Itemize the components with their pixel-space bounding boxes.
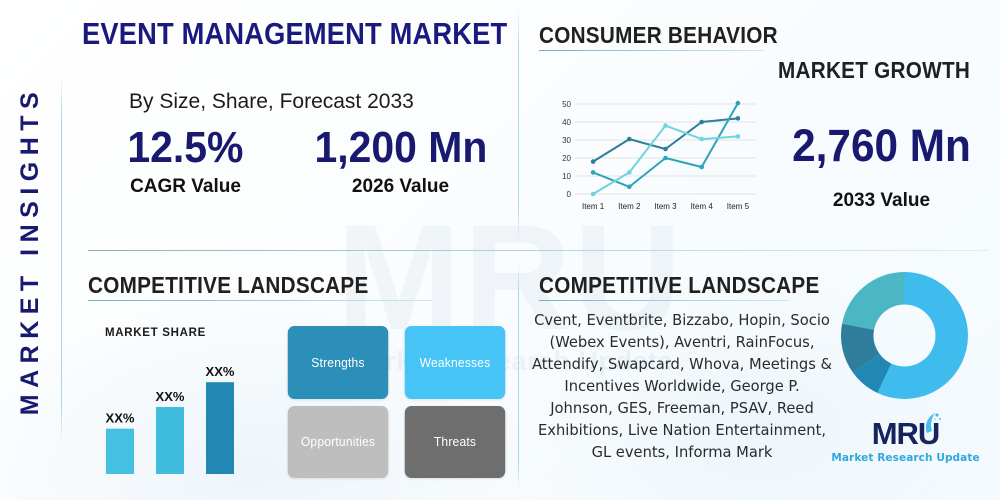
svg-text:Item 2: Item 2 [618,202,641,211]
swot-matrix: StrengthsWeaknessesOpportunitiesThreats [284,326,509,478]
consumer-behavior-heading: CONSUMER BEHAVIOR [539,22,778,49]
competitive-landscape-right-heading: COMPETITIVE LANDSCAPE [539,272,820,299]
swot-box-label: Threats [434,434,476,449]
stat-2026-value: 1,200 Mn [314,124,487,172]
swot-box-label: Opportunities [301,434,375,449]
consumer-behavior-line-chart: 01020304050Item 1Item 2Item 3Item 4Item … [549,98,764,216]
market-insights-rail: MARKET INSIGHTS [0,0,62,500]
competitive-landscape-left-heading: COMPETITIVE LANDSCAPE [88,272,369,299]
swot-box-weaknesses: Weaknesses [405,326,505,399]
market-share-label: MARKET SHARE [105,327,206,339]
svg-text:20: 20 [562,154,571,163]
svg-text:Item 4: Item 4 [691,202,714,211]
rail-divider-line [61,74,62,446]
headline-stats: 12.5% CAGR Value 1,200 Mn 2026 Value [78,124,508,224]
market-growth-heading: MARKET GROWTH [778,57,970,84]
competitive-landscape-left-underline [88,300,433,301]
svg-text:Item 5: Item 5 [727,202,750,211]
svg-text:XX%: XX% [156,389,185,404]
svg-text:XX%: XX% [106,411,135,426]
swot-box-threats: Threats [405,406,505,479]
svg-text:Item 1: Item 1 [582,202,605,211]
page-subtitle: By Size, Share, Forecast 2033 [129,90,414,114]
svg-text:Item 3: Item 3 [654,202,677,211]
mru-logo: MRU Market Research Update [843,418,968,474]
infographic-canvas: MRU Market Research Update MARKET INSIGH… [0,0,1000,500]
stat-2026-label: 2026 Value [352,176,449,198]
vertical-divider-top [518,8,519,240]
rail-label: MARKET INSIGHTS [17,85,46,414]
market-share-bar-chart: XX%XX%XX% [98,340,258,480]
svg-text:XX%: XX% [206,364,235,379]
market-growth-value: 2,760 Mn [785,120,978,172]
logo-swoosh-icon [923,411,943,437]
swot-box-label: Weaknesses [420,355,491,370]
logo-wordmark: MRU [872,418,940,449]
page-title: EVENT MANAGEMENT MARKET [82,16,507,52]
stat-2026: 1,200 Mn 2026 Value [293,124,508,198]
swot-box-strengths: Strengths [288,326,388,399]
competitive-landscape-right-underline [539,300,789,301]
market-share-donut-chart [841,272,968,399]
consumer-behavior-underline [539,50,764,51]
market-growth-label: 2033 Value [779,190,984,212]
swot-box-label: Strengths [311,355,364,370]
vertical-divider-bottom [518,262,519,490]
svg-text:0: 0 [567,190,572,199]
svg-text:50: 50 [562,100,571,109]
svg-text:10: 10 [562,172,571,181]
logo-tagline: Market Research Update [831,452,979,464]
stat-cagr: 12.5% CAGR Value [78,124,293,198]
horizontal-divider [88,250,988,251]
svg-text:40: 40 [562,118,571,127]
swot-box-opportunities: Opportunities [288,406,388,479]
stat-cagr-value: 12.5% [127,124,243,172]
svg-text:30: 30 [562,136,571,145]
stat-cagr-label: CAGR Value [130,176,241,198]
company-list: Cvent, Eventbrite, Bizzabo, Hopin, Socio… [532,310,832,464]
